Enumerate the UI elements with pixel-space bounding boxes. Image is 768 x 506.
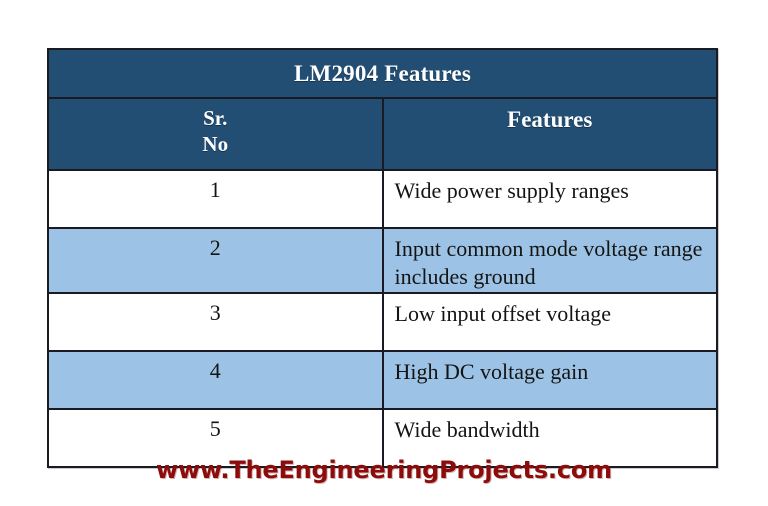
lm2904-features-table: LM2904 Features Sr. No Features 1 Wide p…	[47, 48, 718, 468]
cell-feature: Wide power supply ranges	[383, 170, 718, 228]
table-row: 4 High DC voltage gain	[48, 351, 717, 409]
table-header-row: Sr. No Features	[48, 98, 717, 170]
table-title: LM2904 Features	[48, 49, 717, 98]
table-row: 2 Input common mode voltage range includ…	[48, 228, 717, 293]
cell-sr-no: 1	[48, 170, 383, 228]
cell-sr-no: 3	[48, 293, 383, 351]
column-header-features: Features	[383, 98, 718, 170]
page-root: LM2904 Features Sr. No Features 1 Wide p…	[0, 0, 768, 506]
cell-feature: High DC voltage gain	[383, 351, 718, 409]
cell-feature: Input common mode voltage range includes…	[383, 228, 718, 293]
column-header-sr-no: Sr. No	[48, 98, 383, 170]
features-table-container: LM2904 Features Sr. No Features 1 Wide p…	[47, 48, 718, 468]
site-watermark: www.TheEngineeringProjects.com	[0, 456, 768, 484]
column-header-sr-no-line2: No	[49, 132, 382, 158]
table-row: 1 Wide power supply ranges	[48, 170, 717, 228]
table-title-row: LM2904 Features	[48, 49, 717, 98]
table-row: 3 Low input offset voltage	[48, 293, 717, 351]
column-header-sr-no-line1: Sr.	[49, 106, 382, 132]
cell-feature: Low input offset voltage	[383, 293, 718, 351]
cell-sr-no: 4	[48, 351, 383, 409]
cell-sr-no: 2	[48, 228, 383, 293]
